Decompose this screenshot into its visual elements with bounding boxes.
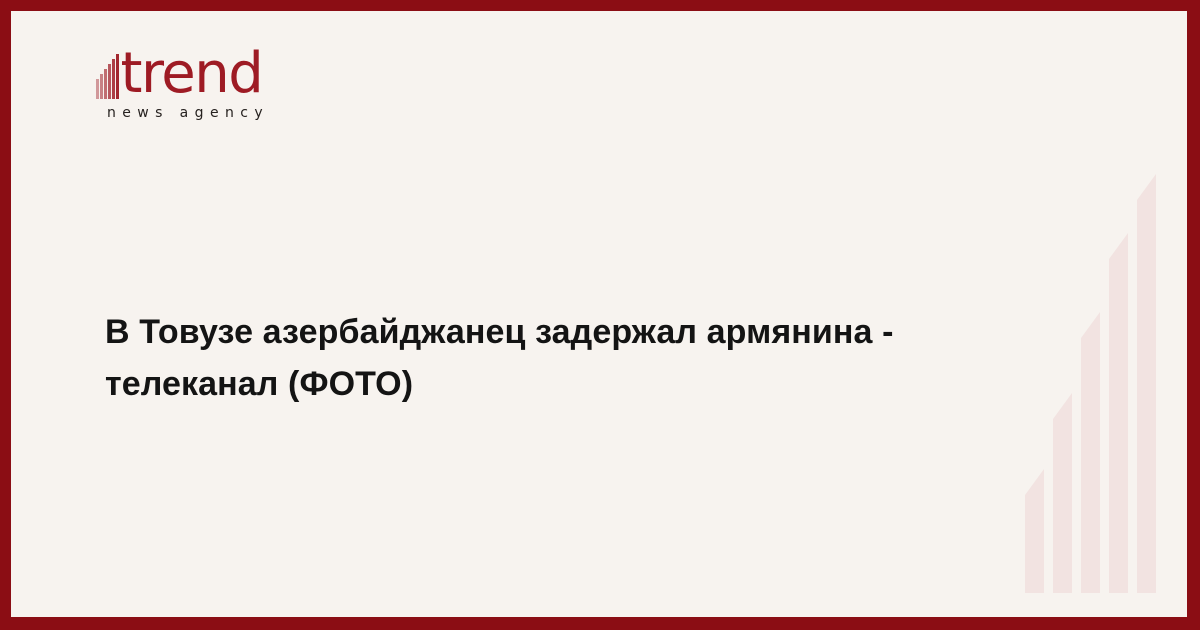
- watermark-bar-2: [1053, 393, 1072, 593]
- article-headline: В Товузе азербайджанец задержал армянина…: [105, 306, 1015, 410]
- ascending-bars-icon: [96, 52, 119, 99]
- watermark-bar-1: [1025, 469, 1044, 593]
- ascending-bars-watermark: [1025, 174, 1166, 593]
- headline-line-2: телеканал (ФОТО): [105, 365, 413, 403]
- card-content-area: trend news agency В Товузе азербайджанец…: [11, 11, 1187, 617]
- trend-logo[interactable]: trend news agency: [96, 44, 396, 121]
- logo-wordmark: trend: [121, 48, 263, 100]
- headline-line-1: В Товузе азербайджанец задержал армянина…: [105, 313, 894, 351]
- watermark-bar-4: [1109, 233, 1128, 593]
- watermark-bar-5: [1137, 174, 1156, 593]
- logo-lockup: trend: [96, 44, 396, 100]
- news-share-card: trend news agency В Товузе азербайджанец…: [0, 0, 1200, 630]
- watermark-bar-3: [1081, 312, 1100, 593]
- logo-tagline: news agency: [107, 105, 396, 121]
